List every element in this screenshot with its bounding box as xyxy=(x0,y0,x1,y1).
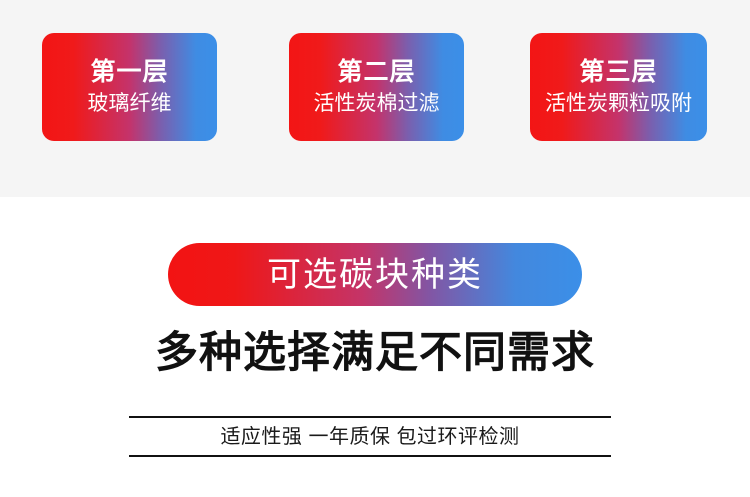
layer-card-2-title: 第二层 xyxy=(337,58,415,86)
section-heading: 多种选择满足不同需求 xyxy=(0,330,750,377)
layer-card-1-subtitle: 玻璃纤维 xyxy=(88,91,172,116)
carbon-selection-block: 可选碳块种类 多种选择满足不同需求 适应性强 一年质保 包过环评检测 xyxy=(0,197,750,497)
feature-strip: 适应性强 一年质保 包过环评检测 xyxy=(129,416,611,457)
filter-layers-band: 第一层 玻璃纤维 第二层 活性炭棉过滤 第三层 活性炭颗粒吸附 xyxy=(0,0,750,197)
layer-card-3-subtitle: 活性炭颗粒吸附 xyxy=(545,91,692,116)
promo-page: 第一层 玻璃纤维 第二层 活性炭棉过滤 第三层 活性炭颗粒吸附 可选碳块种类 多… xyxy=(0,0,750,497)
layer-card-3-title: 第三层 xyxy=(579,58,657,86)
feature-strip-text: 适应性强 一年质保 包过环评检测 xyxy=(220,427,519,447)
carbon-types-badge[interactable]: 可选碳块种类 xyxy=(168,243,582,306)
layer-card-3[interactable]: 第三层 活性炭颗粒吸附 xyxy=(530,33,707,141)
layer-card-1-title: 第一层 xyxy=(90,58,168,86)
layer-card-2-subtitle: 活性炭棉过滤 xyxy=(314,91,440,116)
carbon-types-badge-label: 可选碳块种类 xyxy=(267,258,483,292)
layer-card-2[interactable]: 第二层 活性炭棉过滤 xyxy=(289,33,464,141)
layer-card-1[interactable]: 第一层 玻璃纤维 xyxy=(42,33,217,141)
